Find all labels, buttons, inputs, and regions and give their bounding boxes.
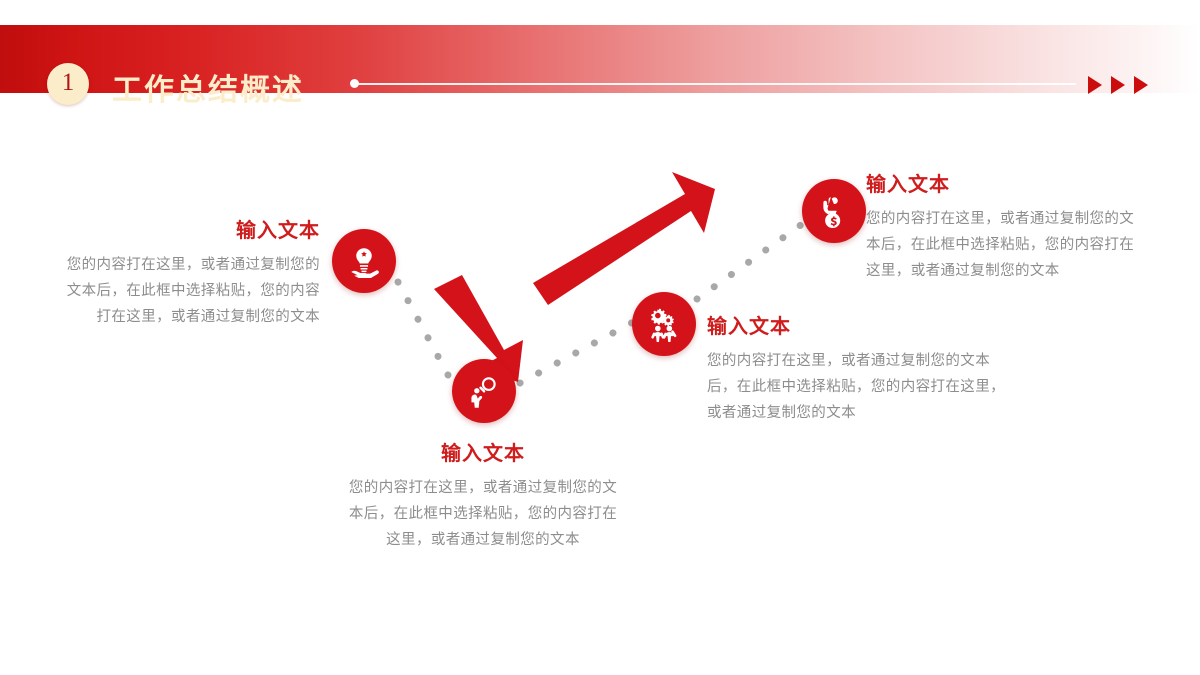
person-magnifier-icon: [467, 374, 501, 408]
slide-canvas: 1 工作总结概述: [0, 0, 1200, 675]
text-block-1: 输入文本 您的内容打在这里，或者通过复制您的文本后，在此框中选择粘贴，您的内容打…: [60, 214, 320, 330]
text-block-2-title: 输入文本: [343, 437, 623, 466]
text-block-4-body: 您的内容打在这里，或者通过复制您的文本后，在此框中选择粘贴，您的内容打在这里，或…: [866, 206, 1141, 284]
text-block-2: 输入文本 您的内容打在这里，或者通过复制您的文本后，在此框中选择粘贴，您的内容打…: [343, 437, 623, 553]
diagram-graphics: [0, 0, 1200, 675]
hand-money-bag-icon: [817, 194, 851, 228]
team-gears-icon: [646, 306, 682, 342]
text-block-3-body: 您的内容打在这里，或者通过复制您的文本后，在此框中选择粘贴，您的内容打在这里，或…: [707, 348, 1007, 426]
text-block-3: 输入文本 您的内容打在这里，或者通过复制您的文本后，在此框中选择粘贴，您的内容打…: [707, 310, 1007, 426]
text-block-1-title: 输入文本: [60, 214, 320, 243]
arrow-up-right-large: [533, 172, 715, 305]
node-circle-4[interactable]: [802, 179, 866, 243]
node-circle-1[interactable]: [332, 229, 396, 293]
node-circle-2[interactable]: [452, 359, 516, 423]
text-block-4-title: 输入文本: [866, 168, 1141, 197]
text-block-1-body: 您的内容打在这里，或者通过复制您的文本后，在此框中选择粘贴，您的内容打在这里，或…: [60, 252, 320, 330]
text-block-3-title: 输入文本: [707, 310, 1007, 339]
dotted-connector-2-3: [520, 320, 637, 383]
text-block-2-body: 您的内容打在这里，或者通过复制您的文本后，在此框中选择粘贴，您的内容打在这里，或…: [343, 475, 623, 553]
node-circle-3[interactable]: [632, 292, 696, 356]
dotted-connector-3-4: [697, 222, 805, 299]
lightbulb-in-hand-icon: [347, 244, 381, 278]
text-block-4: 输入文本 您的内容打在这里，或者通过复制您的文本后，在此框中选择粘贴，您的内容打…: [866, 168, 1141, 284]
